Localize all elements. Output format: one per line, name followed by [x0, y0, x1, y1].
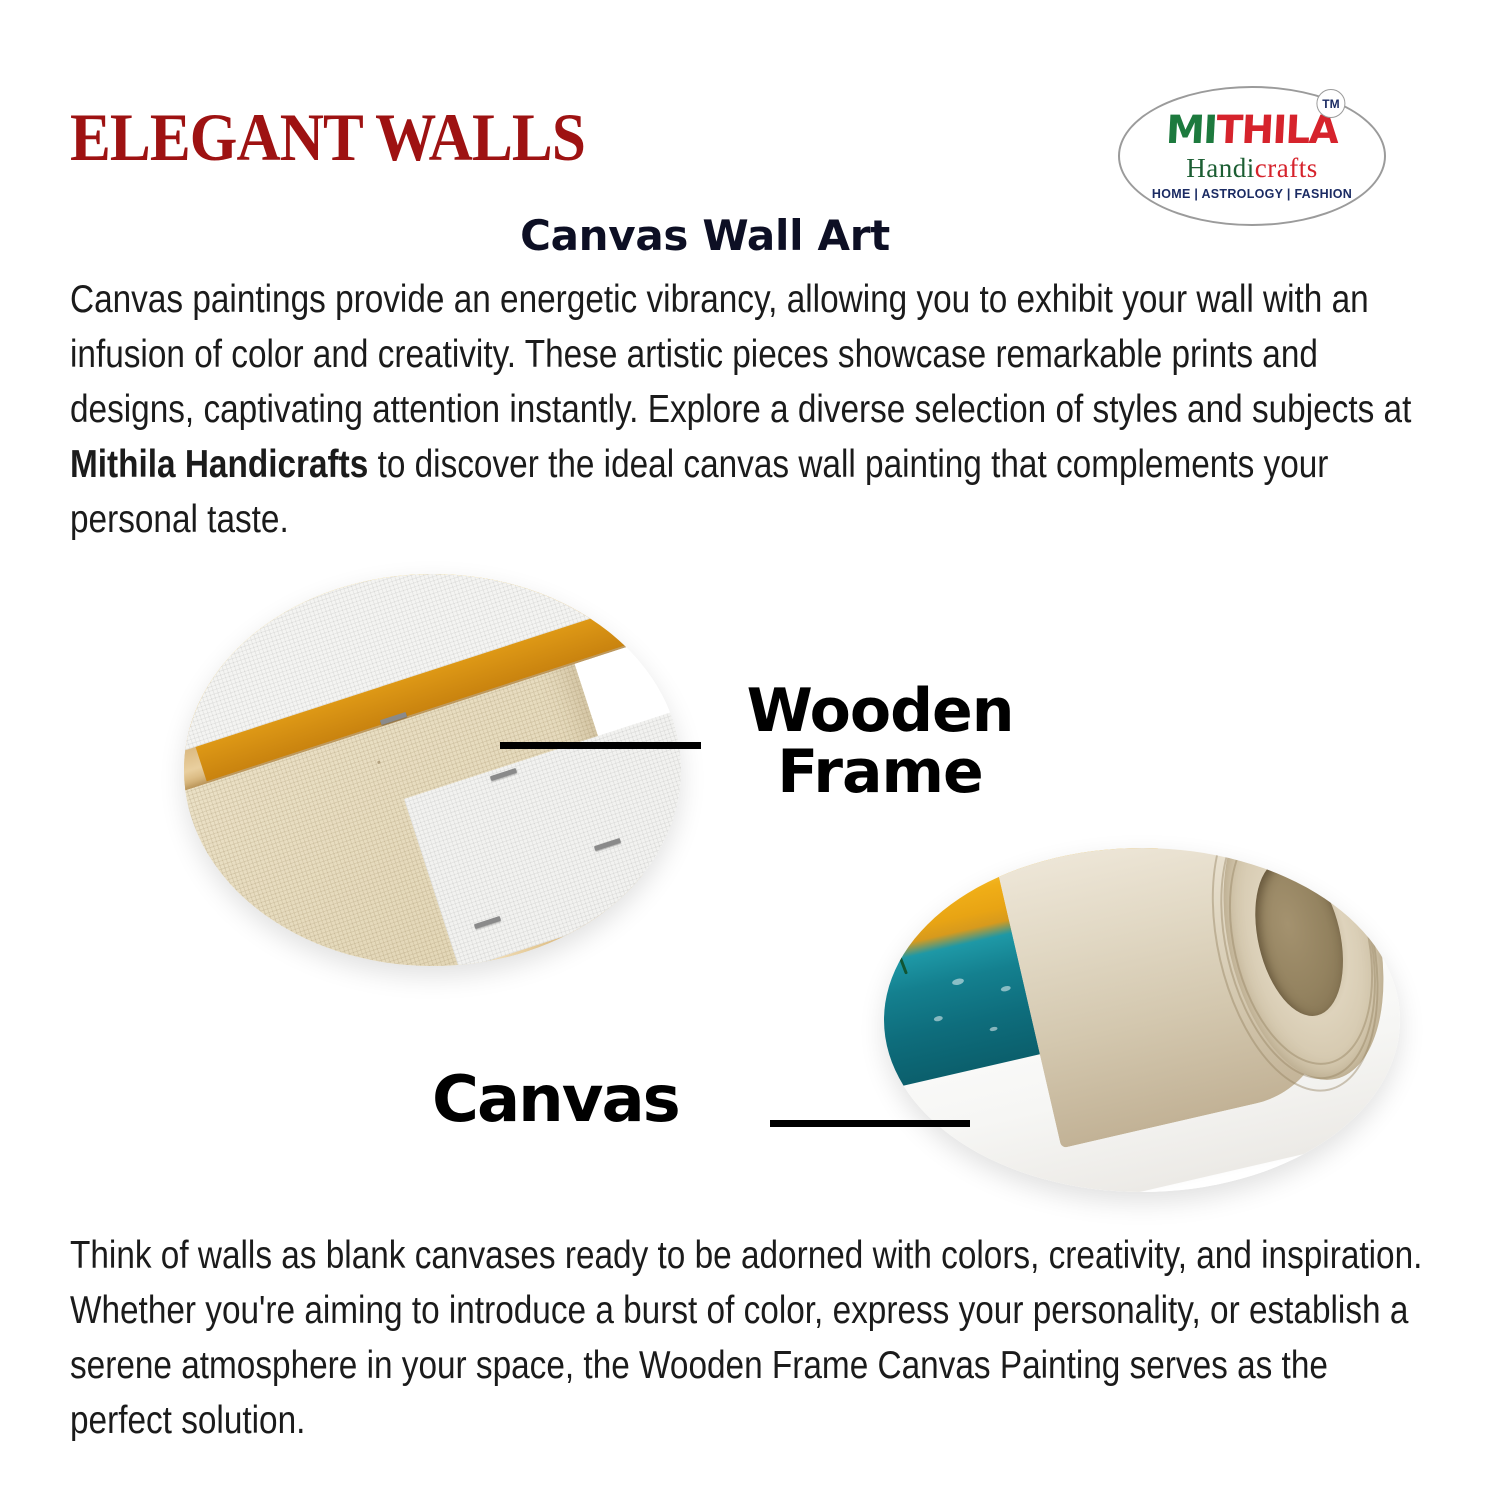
intro-paragraph-part-a: Canvas paintings provide an energetic vi…: [70, 278, 1411, 431]
wooden-frame-label-line2: Frame: [700, 742, 1060, 803]
canvas-label: Canvas: [432, 1068, 679, 1133]
wooden-frame-label: Wooden Frame: [700, 681, 1060, 803]
logo-wordmark: MITHILA TM: [1165, 111, 1339, 150]
logo-wordmark-part1: MI: [1165, 108, 1218, 153]
logo-subname-part1: Handi: [1186, 153, 1254, 183]
canvas-roll-photo: [884, 848, 1400, 1192]
wooden-frame-label-line1: Wooden: [700, 681, 1060, 742]
intro-paragraph: Canvas paintings provide an energetic vi…: [70, 272, 1429, 547]
page-title: ELEGANT WALLS: [70, 103, 585, 171]
section-subtitle: Canvas Wall Art: [0, 211, 1500, 260]
poster-canvas: ELEGANT WALLS MITHILA TM Handicrafts HOM…: [0, 0, 1500, 1500]
logo-subname-part2: crafts: [1255, 153, 1318, 183]
logo-tagline: HOME | ASTROLOGY | FASHION: [1152, 187, 1352, 201]
brand-logo: MITHILA TM Handicrafts HOME | ASTROLOGY …: [1118, 86, 1386, 226]
logo-wordmark-part2: THILA: [1215, 108, 1339, 153]
closing-paragraph: Think of walls as blank canvases ready t…: [70, 1228, 1429, 1448]
logo-subname: Handicrafts: [1186, 154, 1317, 183]
wooden-frame-leader-line: [500, 742, 701, 749]
canvas-leader-line: [770, 1120, 970, 1127]
trademark-icon: TM: [1316, 89, 1345, 118]
brand-mention: Mithila Handicrafts: [70, 443, 368, 486]
wooden-frame-photo: [184, 574, 681, 966]
